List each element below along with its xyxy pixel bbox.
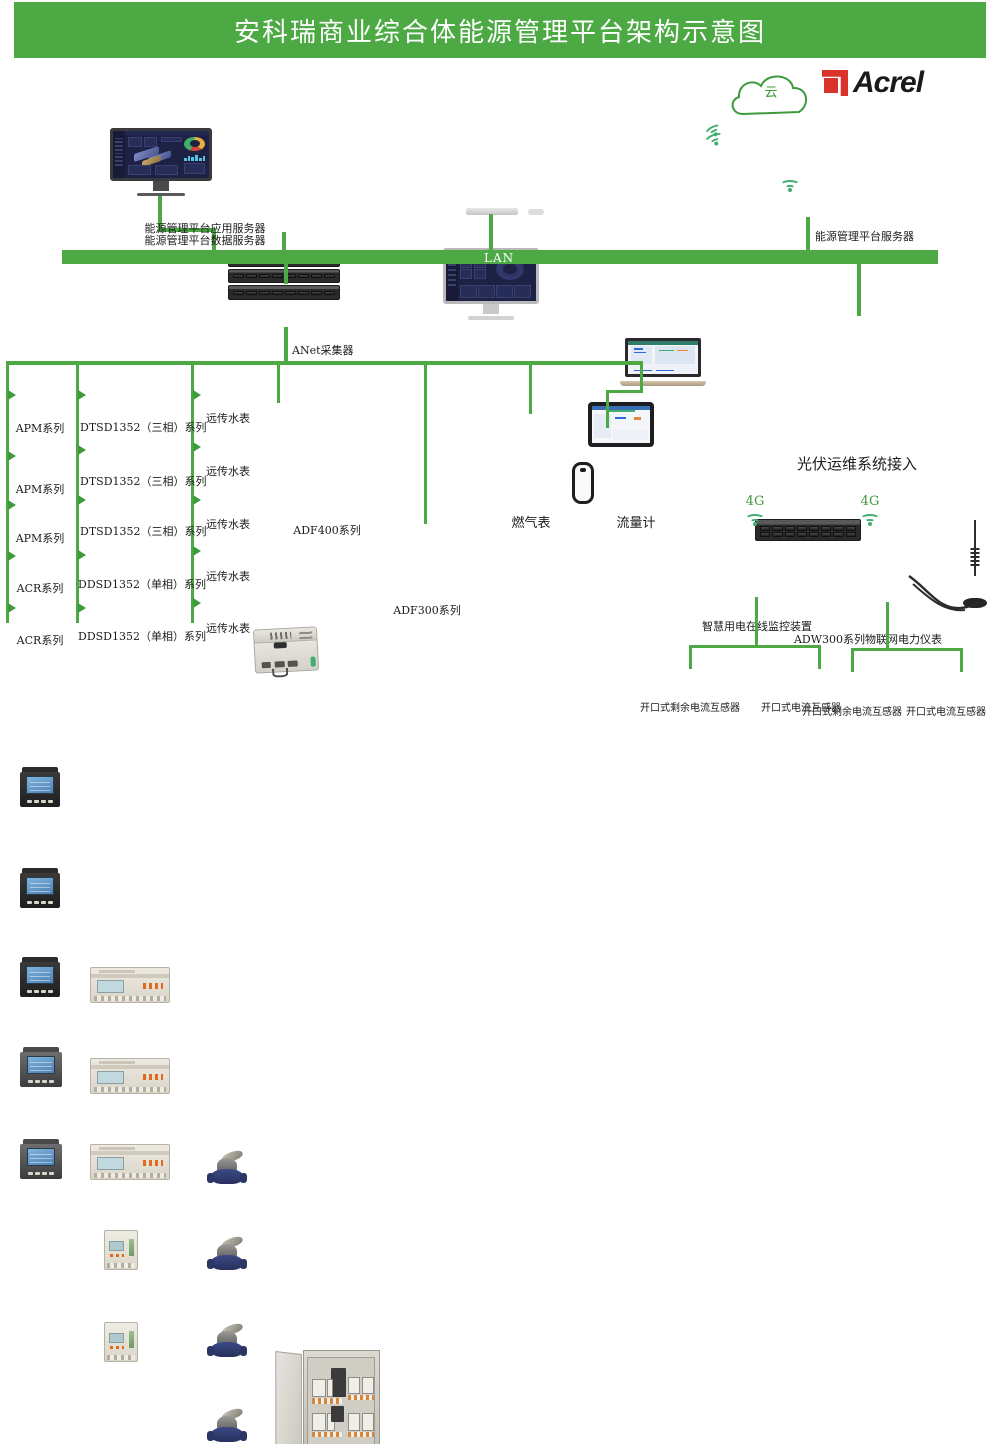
ct-drop-2b — [960, 648, 963, 672]
remote-server-label: 能源管理平台服务器 — [815, 228, 914, 244]
imac-stand — [483, 304, 498, 314]
trunk-flow-bend — [640, 361, 643, 393]
wifi-icon-remote-server — [780, 176, 800, 192]
branch-arrow — [8, 390, 16, 400]
trunk-gas-meter — [529, 361, 532, 414]
anet-collector — [253, 626, 319, 673]
device-label-dtsd-3: DTSD1352（三相）系列 — [80, 523, 207, 539]
monitor-stand — [153, 181, 169, 191]
device-adf400-cabinet — [274, 1350, 380, 1444]
laptop-base — [620, 381, 706, 386]
adw300-network-label: 4G — [861, 494, 880, 509]
mouse — [528, 209, 544, 215]
laptop-screen — [625, 338, 701, 377]
field-device-bus — [6, 361, 642, 365]
branch-arrow — [78, 445, 86, 455]
lan-label: LAN — [484, 251, 514, 265]
branch-arrow — [193, 442, 201, 452]
link-server-lan — [282, 232, 286, 252]
link-anet-bus — [284, 327, 288, 363]
acrel-logo-mark-icon — [822, 70, 848, 96]
device-label-acr-1: ACR系列 — [17, 580, 64, 596]
ct-label-4: 开口式电流互感器 — [906, 703, 986, 718]
device-water-meter-2 — [206, 1237, 248, 1271]
branch-arrow — [78, 495, 86, 505]
ct-label-3: 开口式剩余电流互感器 — [802, 703, 902, 718]
anet-collector-label: ANet采集器 — [292, 342, 354, 358]
branch-arrow — [8, 451, 16, 461]
pv-system-label: 光伏运维系统接入 — [797, 453, 917, 474]
branch-arrow — [8, 500, 16, 510]
tablet — [588, 402, 654, 447]
device-label-adf400: ADF400系列 — [293, 522, 360, 538]
device-label-acr-2: ACR系列 — [17, 632, 64, 648]
smart-monitor-network-label: 4G — [746, 494, 765, 509]
device-water-meter-4 — [206, 1409, 248, 1443]
device-label-dtsd-1: DTSD1352（三相）系列 — [80, 419, 207, 435]
device-water-meter-3 — [206, 1324, 248, 1358]
device-apm-3 — [20, 957, 60, 997]
acrel-logo: Acrel — [822, 66, 923, 100]
device-dtsd-2 — [90, 1058, 170, 1094]
link-imac-lan — [489, 214, 493, 252]
device-label-apm-3: APM系列 — [16, 530, 65, 546]
antenna-cable — [905, 570, 983, 614]
acrel-brand-name: Acrel — [853, 66, 923, 100]
device-label-ddsd-2: DDSD1352（单相）系列 — [78, 628, 206, 644]
device-dtsd-1 — [90, 967, 170, 1003]
device-water-meter-1 — [206, 1151, 248, 1185]
trunk-adf300 — [424, 361, 427, 524]
device-label-water-5: 远传水表 — [206, 620, 250, 636]
ct-drop-1a — [689, 645, 692, 669]
diagram-canvas: 安科瑞商业综合体能源管理平台架构示意图 Acrel 云 — [0, 0, 1000, 722]
device-ddsd-1 — [104, 1230, 138, 1270]
wifi-icon-smart-monitor — [745, 510, 765, 526]
ct-bus-2 — [851, 648, 963, 651]
workstation-label-2: 能源管理平台数据服务器 — [145, 232, 266, 248]
device-label-apm-1: APM系列 — [16, 420, 65, 436]
device-label-water-1: 远传水表 — [206, 410, 250, 426]
branch-arrow — [193, 598, 201, 608]
branch-arrow — [78, 390, 86, 400]
branch-arrow — [8, 551, 16, 561]
device-acr-1 — [20, 1047, 62, 1087]
branch-arrow — [78, 603, 86, 613]
device-label-ddsd-1: DDSD1352（单相）系列 — [78, 576, 206, 592]
device-apm-1 — [20, 767, 60, 807]
tablet-screen — [588, 402, 654, 447]
device-label-water-2: 远传水表 — [206, 463, 250, 479]
monitor-screen — [110, 128, 212, 181]
ct-bus-1 — [689, 645, 821, 648]
device-label-dtsd-2: DTSD1352（三相）系列 — [80, 473, 207, 489]
ct-drop-2a — [851, 648, 854, 672]
energy-dashboard-screen — [113, 131, 209, 178]
branch-arrow — [193, 546, 201, 556]
remote-platform-server — [755, 519, 861, 541]
imac-base — [468, 316, 514, 320]
link-smart-monitor-ct — [755, 597, 758, 648]
ct-drop-1b — [818, 645, 821, 669]
operator-monitor — [110, 128, 212, 196]
device-dtsd-3 — [90, 1144, 170, 1180]
device-label-water-3: 远传水表 — [206, 516, 250, 532]
device-label-water-4: 远传水表 — [206, 568, 250, 584]
page-title: 安科瑞商业综合体能源管理平台架构示意图 — [234, 12, 766, 49]
trunk-panel-meters — [6, 361, 9, 623]
device-label-apm-2: APM系列 — [16, 481, 65, 497]
link-remote-server-lan — [806, 217, 810, 252]
cloud-icon: 云 — [725, 68, 817, 120]
wifi-icon-adw300 — [860, 510, 880, 526]
link-lan-anet — [284, 264, 288, 284]
trunk-flow-cross — [606, 390, 643, 393]
device-label-flow-meter: 流量计 — [616, 512, 655, 531]
device-apm-2 — [20, 868, 60, 908]
page-title-bar: 安科瑞商业综合体能源管理平台架构示意图 — [14, 2, 986, 58]
link-adw300-ct — [886, 602, 889, 650]
cloud-label: 云 — [764, 81, 777, 100]
smartphone — [572, 462, 594, 504]
branch-arrow — [193, 390, 201, 400]
link-lan-pv — [857, 264, 861, 316]
branch-arrow — [193, 495, 201, 505]
ct-label-1: 开口式剩余电流互感器 — [640, 699, 740, 714]
device-acr-2 — [20, 1139, 62, 1179]
branch-arrow — [8, 603, 16, 613]
trunk-adf400 — [277, 361, 280, 403]
device-label-adf300: ADF300系列 — [393, 602, 460, 618]
trunk-flow-meter — [606, 390, 609, 428]
device-label-gas-meter: 燃气表 — [511, 512, 550, 531]
branch-arrow — [78, 550, 86, 560]
device-ddsd-2 — [104, 1322, 138, 1362]
